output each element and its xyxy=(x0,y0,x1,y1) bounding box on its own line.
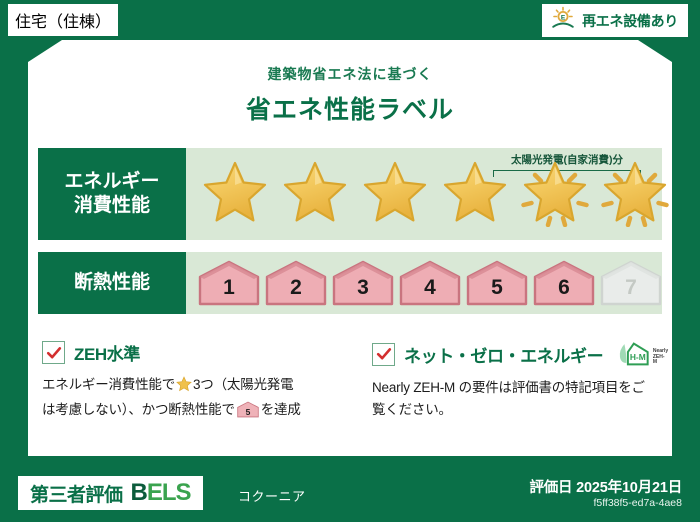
zeh-m-logo: H-M Nearly ZEH-M xyxy=(617,340,668,368)
star-solar xyxy=(518,158,592,230)
zeh-standard-body: エネルギー消費性能で3つ（太陽光発電は考慮しない）、かつ断熱性能で5を達成 xyxy=(42,374,344,425)
check-icon xyxy=(372,343,395,366)
energy-performance-label: 住宅（住棟） E 再エネ設備あり xyxy=(0,0,700,522)
title-subtitle: 建築物省エネ法に基づく xyxy=(28,64,672,84)
star-filled xyxy=(278,158,352,230)
star-solar xyxy=(598,158,672,230)
insulation-badge-number: 2 xyxy=(290,276,302,306)
svg-text:5: 5 xyxy=(245,407,250,417)
zeh-text-part3: を達成 xyxy=(261,402,301,417)
insulation-badge-inactive: 7 xyxy=(600,260,662,306)
svg-text:H-M: H-M xyxy=(630,352,646,362)
net-zero-header: ネット・ゼロ・エネルギー H-M Nearly ZEH-M xyxy=(372,340,658,368)
bels-prefix-label: 第三者評価 xyxy=(30,480,123,507)
zeh-text-stars: 3つ（太陽光発電 xyxy=(193,377,293,392)
zeh-standard-section: ZEH水準 エネルギー消費性能で3つ（太陽光発電は考慮しない）、かつ断熱性能で5… xyxy=(28,332,358,456)
insulation-badge-active: 2 xyxy=(265,260,327,306)
star-filled xyxy=(438,158,512,230)
house-type-box: 住宅（住棟） xyxy=(8,4,118,36)
renewable-equipment-badge: E 再エネ設備あり xyxy=(542,4,688,37)
inline-insulation-badge: 5 xyxy=(237,406,259,421)
insulation-badge-active: 1 xyxy=(198,260,260,306)
check-icon xyxy=(42,341,65,364)
bels-logo: BELS xyxy=(131,479,191,507)
insulation-row-body: 1 2 3 4 5 6 7 xyxy=(186,252,662,314)
brand-name: コクーニア xyxy=(238,486,306,505)
insulation-level-scale: 1 2 3 4 5 6 7 xyxy=(198,260,662,306)
footer-bar: 第三者評価 BELS コクーニア 評価日 2025年10月21日 f5ff38f… xyxy=(0,466,700,522)
evaluation-date: 評価日 2025年10月21日 xyxy=(529,476,682,497)
energy-star-rating xyxy=(198,158,672,230)
insulation-badge-active: 3 xyxy=(332,260,394,306)
energy-row-label: エネルギー 消費性能 xyxy=(38,148,186,240)
title-block: 建築物省エネ法に基づく 省エネ性能ラベル xyxy=(28,64,672,126)
page-title: 省エネ性能ラベル xyxy=(28,90,672,126)
zeh-standard-title: ZEH水準 xyxy=(74,340,140,365)
insulation-badge-active: 6 xyxy=(533,260,595,306)
zeh-text-part2: は考慮しない）、かつ断熱性能で xyxy=(42,402,235,417)
solar-sun-icon: E xyxy=(550,5,576,36)
svg-text:E: E xyxy=(561,14,566,21)
house-type-label: 住宅（住棟） xyxy=(15,8,111,32)
insulation-badge-number: 3 xyxy=(357,276,369,306)
evaluation-id: f5ff38f5-ed7a-4ae8 xyxy=(593,497,682,509)
net-zero-title: ネット・ゼロ・エネルギー xyxy=(404,342,603,367)
renewable-badge-label: 再エネ設備あり xyxy=(582,11,678,31)
insulation-row-label: 断熱性能 xyxy=(38,252,186,314)
bels-badge: 第三者評価 BELS xyxy=(18,476,203,510)
zeh-text-part1: エネルギー消費性能で xyxy=(42,377,175,392)
energy-row-label-line1: エネルギー xyxy=(64,170,159,194)
insulation-badge-number: 1 xyxy=(223,276,235,306)
insulation-badge-number: 5 xyxy=(491,276,503,306)
zeh-m-caption-line2: ZEH-M xyxy=(653,354,665,365)
zeh-standard-header: ZEH水準 xyxy=(42,340,344,365)
bels-logo-b: B xyxy=(131,479,147,506)
net-zero-energy-section: ネット・ゼロ・エネルギー H-M Nearly ZEH-M Nearly xyxy=(358,332,672,456)
info-sections: ZEH水準 エネルギー消費性能で3つ（太陽光発電は考慮しない）、かつ断熱性能で5… xyxy=(28,332,672,456)
insulation-badge-active: 4 xyxy=(399,260,461,306)
star-filled xyxy=(198,158,272,230)
star-filled xyxy=(358,158,432,230)
insulation-badge-number: 6 xyxy=(558,276,570,306)
label-card: 建築物省エネ法に基づく 省エネ性能ラベル エネルギー 消費性能 太陽光発電(自家… xyxy=(28,40,672,456)
energy-row-body: 太陽光発電(自家消費)分 xyxy=(186,148,662,240)
insulation-badge-active: 5 xyxy=(466,260,528,306)
insulation-row-label-text: 断熱性能 xyxy=(74,271,150,295)
bels-logo-els: ELS xyxy=(147,479,191,506)
insulation-badge-number: 4 xyxy=(424,276,436,306)
energy-row-label-line2: 消費性能 xyxy=(74,194,150,218)
energy-performance-row: エネルギー 消費性能 太陽光発電(自家消費)分 xyxy=(38,148,662,240)
net-zero-body: Nearly ZEH-M の要件は評価書の特記項目をご覧ください。 xyxy=(372,377,658,421)
insulation-badge-number: 7 xyxy=(625,276,637,306)
zeh-m-logo-caption: Nearly ZEH-M xyxy=(653,349,669,368)
header-bar: 住宅（住棟） E 再エネ設備あり xyxy=(0,0,700,40)
inline-star-icon xyxy=(176,380,192,395)
insulation-performance-row: 断熱性能 1 2 3 4 5 xyxy=(38,252,662,314)
